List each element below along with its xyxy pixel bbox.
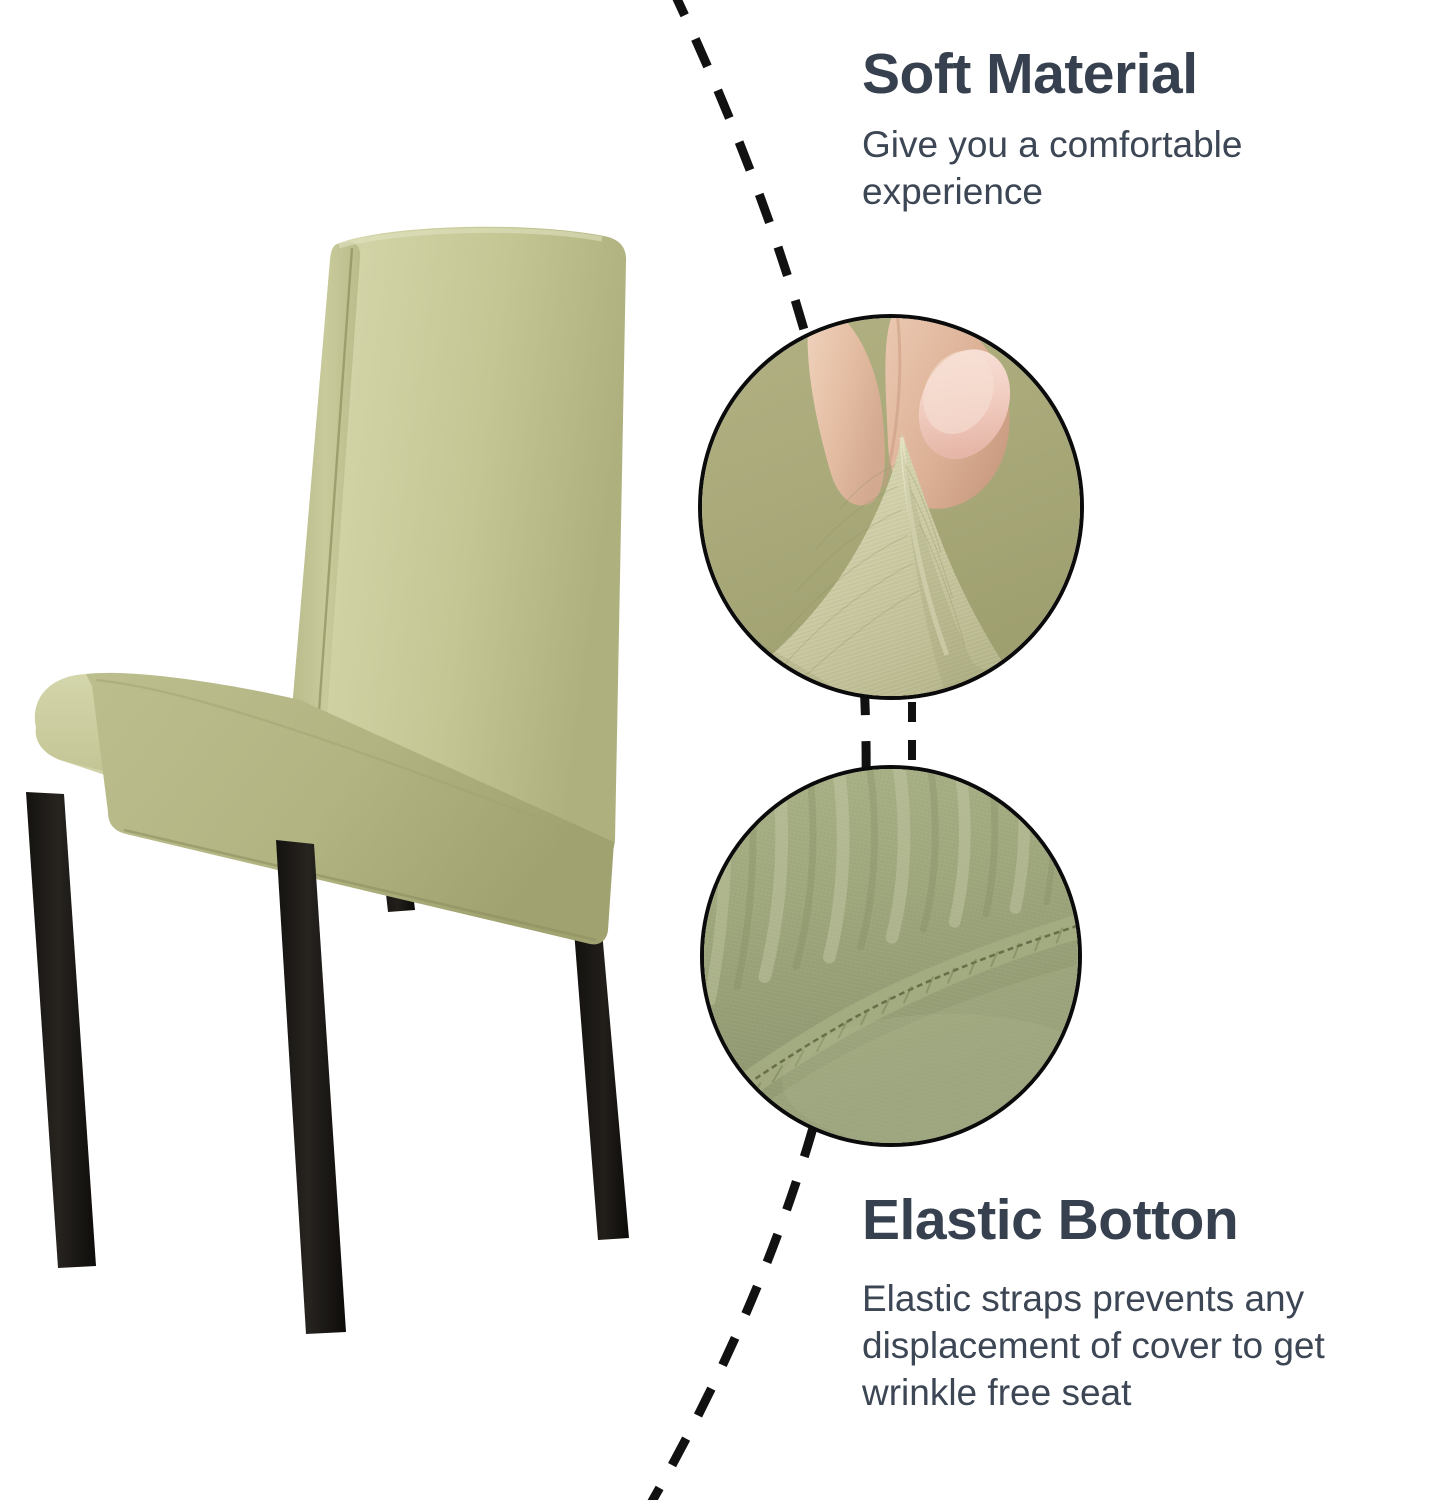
chair-leg-front-left bbox=[26, 792, 96, 1268]
callout-circle-elastic-bottom bbox=[700, 765, 1082, 1147]
feature-text-elastic-bottom: Elastic Botton Elastic straps prevents a… bbox=[862, 1190, 1439, 1416]
feature-description-elastic-bottom: Elastic straps prevents any displacement… bbox=[862, 1276, 1432, 1416]
chair-product-image bbox=[0, 140, 700, 1340]
feature-headline-elastic-bottom: Elastic Botton bbox=[862, 1190, 1439, 1250]
feature-text-soft-material: Soft Material Give you a comfortable exp… bbox=[862, 44, 1439, 216]
callout-circle-soft-material bbox=[698, 314, 1084, 700]
chair-leg-front-middle bbox=[276, 840, 346, 1334]
feature-description-soft-material: Give you a comfortable experience bbox=[862, 122, 1432, 215]
dashed-circle-connector bbox=[908, 702, 916, 762]
feature-headline-soft-material: Soft Material bbox=[862, 44, 1439, 104]
product-infographic: Soft Material Give you a comfortable exp… bbox=[0, 0, 1439, 1500]
